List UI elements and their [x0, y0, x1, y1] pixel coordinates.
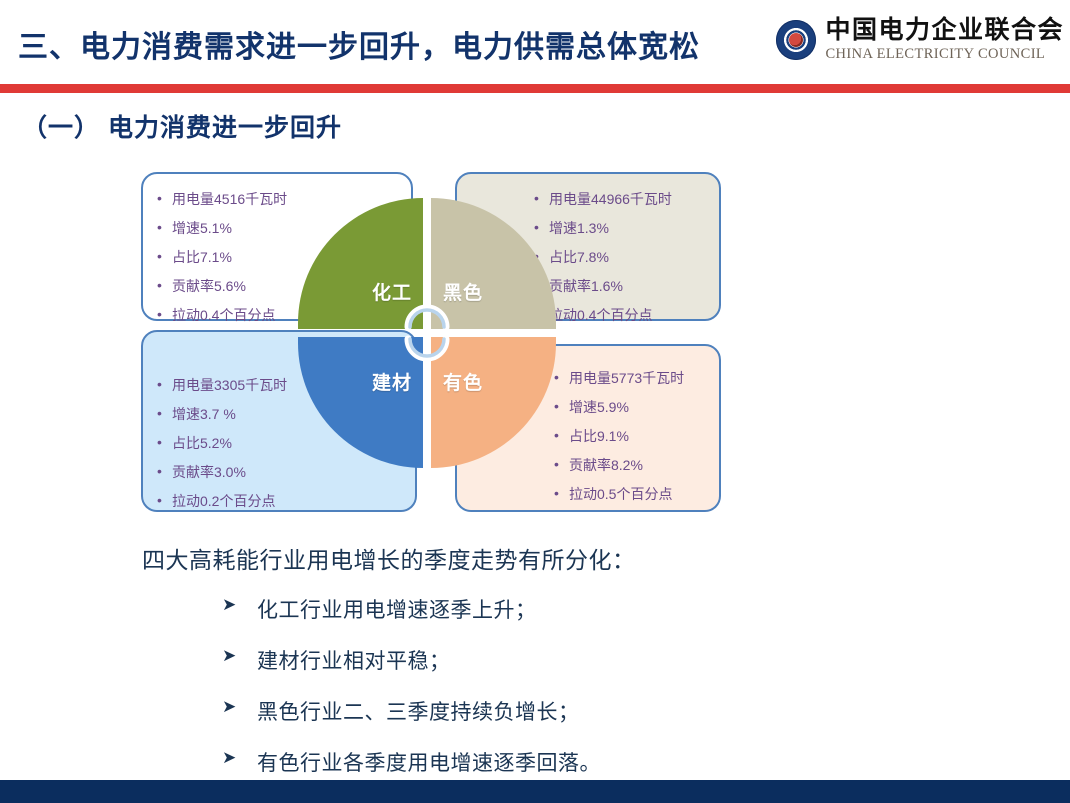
list-item: 贡献率1.6% — [532, 279, 719, 293]
lead-paragraph: 四大高耗能行业用电增长的季度走势有所分化： — [142, 541, 636, 575]
list-item: 增速5.9% — [552, 400, 719, 414]
list-item: 拉动0.2个百分点 — [155, 494, 415, 508]
list-item: 拉动0.4个百分点 — [532, 308, 719, 322]
list-item: 拉动0.5个百分点 — [552, 487, 719, 501]
pie-label-building: 建材 — [372, 368, 412, 395]
organization-logo: 中国电力企业联合会 CHINA ELECTRICITY COUNCIL — [776, 18, 1064, 62]
list-item: 黑色行业二、三季度持续负增长； — [222, 696, 601, 726]
list-item: 贡献率8.2% — [552, 458, 719, 472]
slide-header: 三、电力消费需求进一步回升，电力供需总体宽松 中国电力企业联合会 CHINA E… — [0, 0, 1070, 84]
quadrant-pie-chart: 化工 黑色 建材 有色 — [298, 198, 556, 468]
list-item: 用电量5773千瓦时 — [552, 371, 719, 385]
list-item: 建材行业相对平稳； — [222, 645, 601, 675]
list-item: 占比9.1% — [552, 429, 719, 443]
list-item: 用电量44966千瓦时 — [532, 192, 719, 206]
logo-name-en: CHINA ELECTRICITY COUNCIL — [825, 47, 1064, 62]
cycle-arrows-icon — [391, 297, 463, 369]
info-list-nonferrous: 用电量5773千瓦时 增速5.9% 占比9.1% 贡献率8.2% 拉动0.5个百… — [552, 371, 719, 516]
list-item: 增速1.3% — [532, 221, 719, 235]
info-list-ferrous: 用电量44966千瓦时 增速1.3% 占比7.8% 贡献率1.6% 拉动0.4个… — [532, 192, 719, 337]
section-subtitle: （一） 电力消费进一步回升 — [22, 108, 342, 144]
slide-footer-bar — [0, 780, 1070, 803]
page-title: 三、电力消费需求进一步回升，电力供需总体宽松 — [18, 22, 700, 66]
header-divider — [0, 84, 1070, 93]
list-item: 有色行业各季度用电增速逐季回落。 — [222, 747, 601, 777]
logo-name-cn: 中国电力企业联合会 — [825, 18, 1064, 43]
four-sector-diagram: 用电量4516千瓦时 增速5.1% 占比7.1% 贡献率5.6% 拉动0.4个百… — [0, 160, 1070, 525]
cec-emblem-icon — [776, 20, 816, 60]
list-item: 化工行业用电增速逐季上升； — [222, 594, 601, 624]
list-item: 占比7.8% — [532, 250, 719, 264]
pie-label-nonferrous: 有色 — [443, 368, 483, 395]
logo-text-block: 中国电力企业联合会 CHINA ELECTRICITY COUNCIL — [825, 18, 1064, 62]
conclusion-bullet-list: 化工行业用电增速逐季上升； 建材行业相对平稳； 黑色行业二、三季度持续负增长； … — [222, 594, 601, 798]
